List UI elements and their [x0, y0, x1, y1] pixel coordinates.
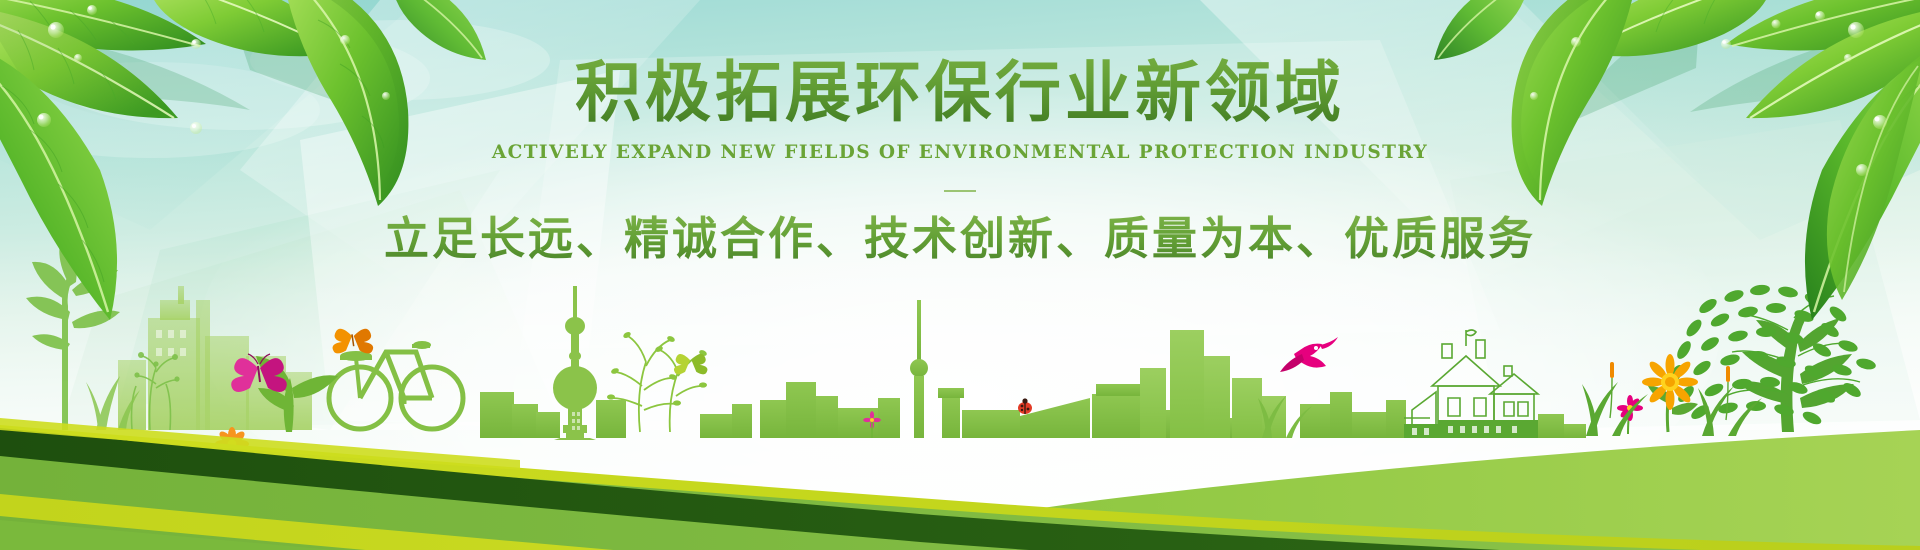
- leaf-cluster-icon-right: [0, 0, 1920, 550]
- leaf-r6: [1434, 0, 1528, 60]
- eco-banner: 积极拓展环保行业新领域 ACTIVELY EXPAND NEW FIELDS O…: [0, 0, 1920, 550]
